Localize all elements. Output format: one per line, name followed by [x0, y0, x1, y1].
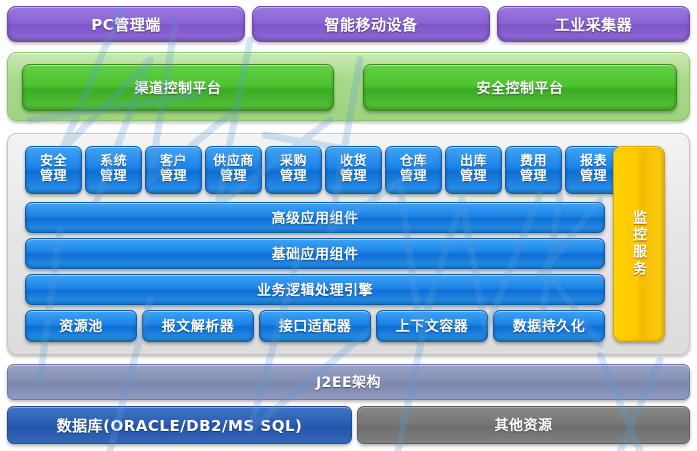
application-layer-container: 安全 管理 系统 管理 客户 管理 供应商 管理 采购 管理 收货 管理: [7, 133, 690, 355]
component-bar-business-logic-engine[interactable]: 业务逻辑处理引擎: [25, 274, 605, 305]
client-box-pc-admin[interactable]: PC管理端: [7, 6, 245, 42]
client-label: 智能移动设备: [324, 14, 417, 35]
platform-box-security-control[interactable]: 安全控制平台: [363, 64, 677, 111]
module-box-supplier-management[interactable]: 供应商 管理: [205, 146, 262, 194]
storage-box-other-resources[interactable]: 其他资源: [357, 406, 690, 444]
component-bar-advanced-application[interactable]: 高级应用组件: [25, 202, 605, 233]
framework-bar-j2ee[interactable]: J2EE架构: [7, 364, 690, 400]
client-label: PC管理端: [91, 14, 161, 35]
client-box-industrial-collector[interactable]: 工业采集器: [497, 6, 690, 42]
module-label-line1: 出库: [460, 155, 487, 170]
module-label-line1: 仓库: [400, 155, 427, 170]
module-label-line2: 管理: [220, 170, 247, 185]
module-box-security-management[interactable]: 安全 管理: [25, 146, 82, 194]
platform-label: 安全控制平台: [477, 78, 564, 98]
component-bar-label: 基础应用组件: [272, 244, 359, 264]
client-label: 工业采集器: [555, 14, 633, 35]
storage-box-database[interactable]: 数据库(ORACLE/DB2/MS SQL): [7, 406, 352, 444]
component-bar-basic-application[interactable]: 基础应用组件: [25, 238, 605, 269]
infra-box-data-persistence[interactable]: 数据持久化: [493, 310, 605, 342]
module-label-line2: 管理: [40, 170, 67, 185]
module-label-line2: 管理: [340, 170, 367, 185]
module-box-outbound-management[interactable]: 出库 管理: [445, 146, 502, 194]
infra-label: 报文解析器: [162, 316, 235, 336]
module-label-line1: 系统: [100, 155, 127, 170]
module-label-line2: 管理: [520, 170, 547, 185]
module-box-warehouse-management[interactable]: 仓库 管理: [385, 146, 442, 194]
component-bar-label: 业务逻辑处理引擎: [257, 280, 373, 300]
module-box-system-management[interactable]: 系统 管理: [85, 146, 142, 194]
module-label-line1: 收货: [340, 155, 367, 170]
module-label-line2: 管理: [160, 170, 187, 185]
client-box-smart-mobile-device[interactable]: 智能移动设备: [252, 6, 490, 42]
storage-label: 其他资源: [495, 415, 553, 435]
storage-label: 数据库(ORACLE/DB2/MS SQL): [57, 415, 303, 436]
module-label-line1: 供应商: [213, 155, 254, 170]
module-label-line2: 管理: [400, 170, 427, 185]
architecture-diagram: PC管理端 智能移动设备 工业采集器 渠道控制平台 安全控制平台 安全 管理 系…: [0, 0, 697, 451]
module-label-line2: 管理: [280, 170, 307, 185]
infra-box-interface-adapter[interactable]: 接口适配器: [259, 310, 371, 342]
module-label-line1: 采购: [280, 155, 307, 170]
module-label-line2: 管理: [100, 170, 127, 185]
module-box-receiving-management[interactable]: 收货 管理: [325, 146, 382, 194]
infra-label: 上下文容器: [396, 316, 469, 336]
platform-layer-container: 渠道控制平台 安全控制平台: [7, 52, 690, 121]
framework-label: J2EE架构: [316, 372, 381, 392]
component-bar-label: 高级应用组件: [272, 208, 359, 228]
module-label-line1: 客户: [160, 155, 187, 170]
infra-label: 接口适配器: [279, 316, 352, 336]
monitoring-service-column[interactable]: 监控服务: [613, 146, 665, 342]
platform-box-channel-control[interactable]: 渠道控制平台: [22, 64, 334, 111]
infra-box-resource-pool[interactable]: 资源池: [25, 310, 137, 342]
platform-label: 渠道控制平台: [135, 78, 222, 98]
module-label-line1: 安全: [40, 155, 67, 170]
module-label-line2: 管理: [580, 170, 607, 185]
monitoring-service-label: 监控服务: [629, 210, 649, 278]
module-label-line1: 费用: [520, 155, 547, 170]
module-label-line2: 管理: [460, 170, 487, 185]
module-label-line1: 报表: [580, 155, 607, 170]
module-box-purchase-management[interactable]: 采购 管理: [265, 146, 322, 194]
infra-box-context-container[interactable]: 上下文容器: [376, 310, 488, 342]
infra-label: 数据持久化: [513, 316, 586, 336]
infra-label: 资源池: [59, 316, 103, 336]
infra-box-message-parser[interactable]: 报文解析器: [142, 310, 254, 342]
module-box-expense-management[interactable]: 费用 管理: [505, 146, 562, 194]
module-box-customer-management[interactable]: 客户 管理: [145, 146, 202, 194]
